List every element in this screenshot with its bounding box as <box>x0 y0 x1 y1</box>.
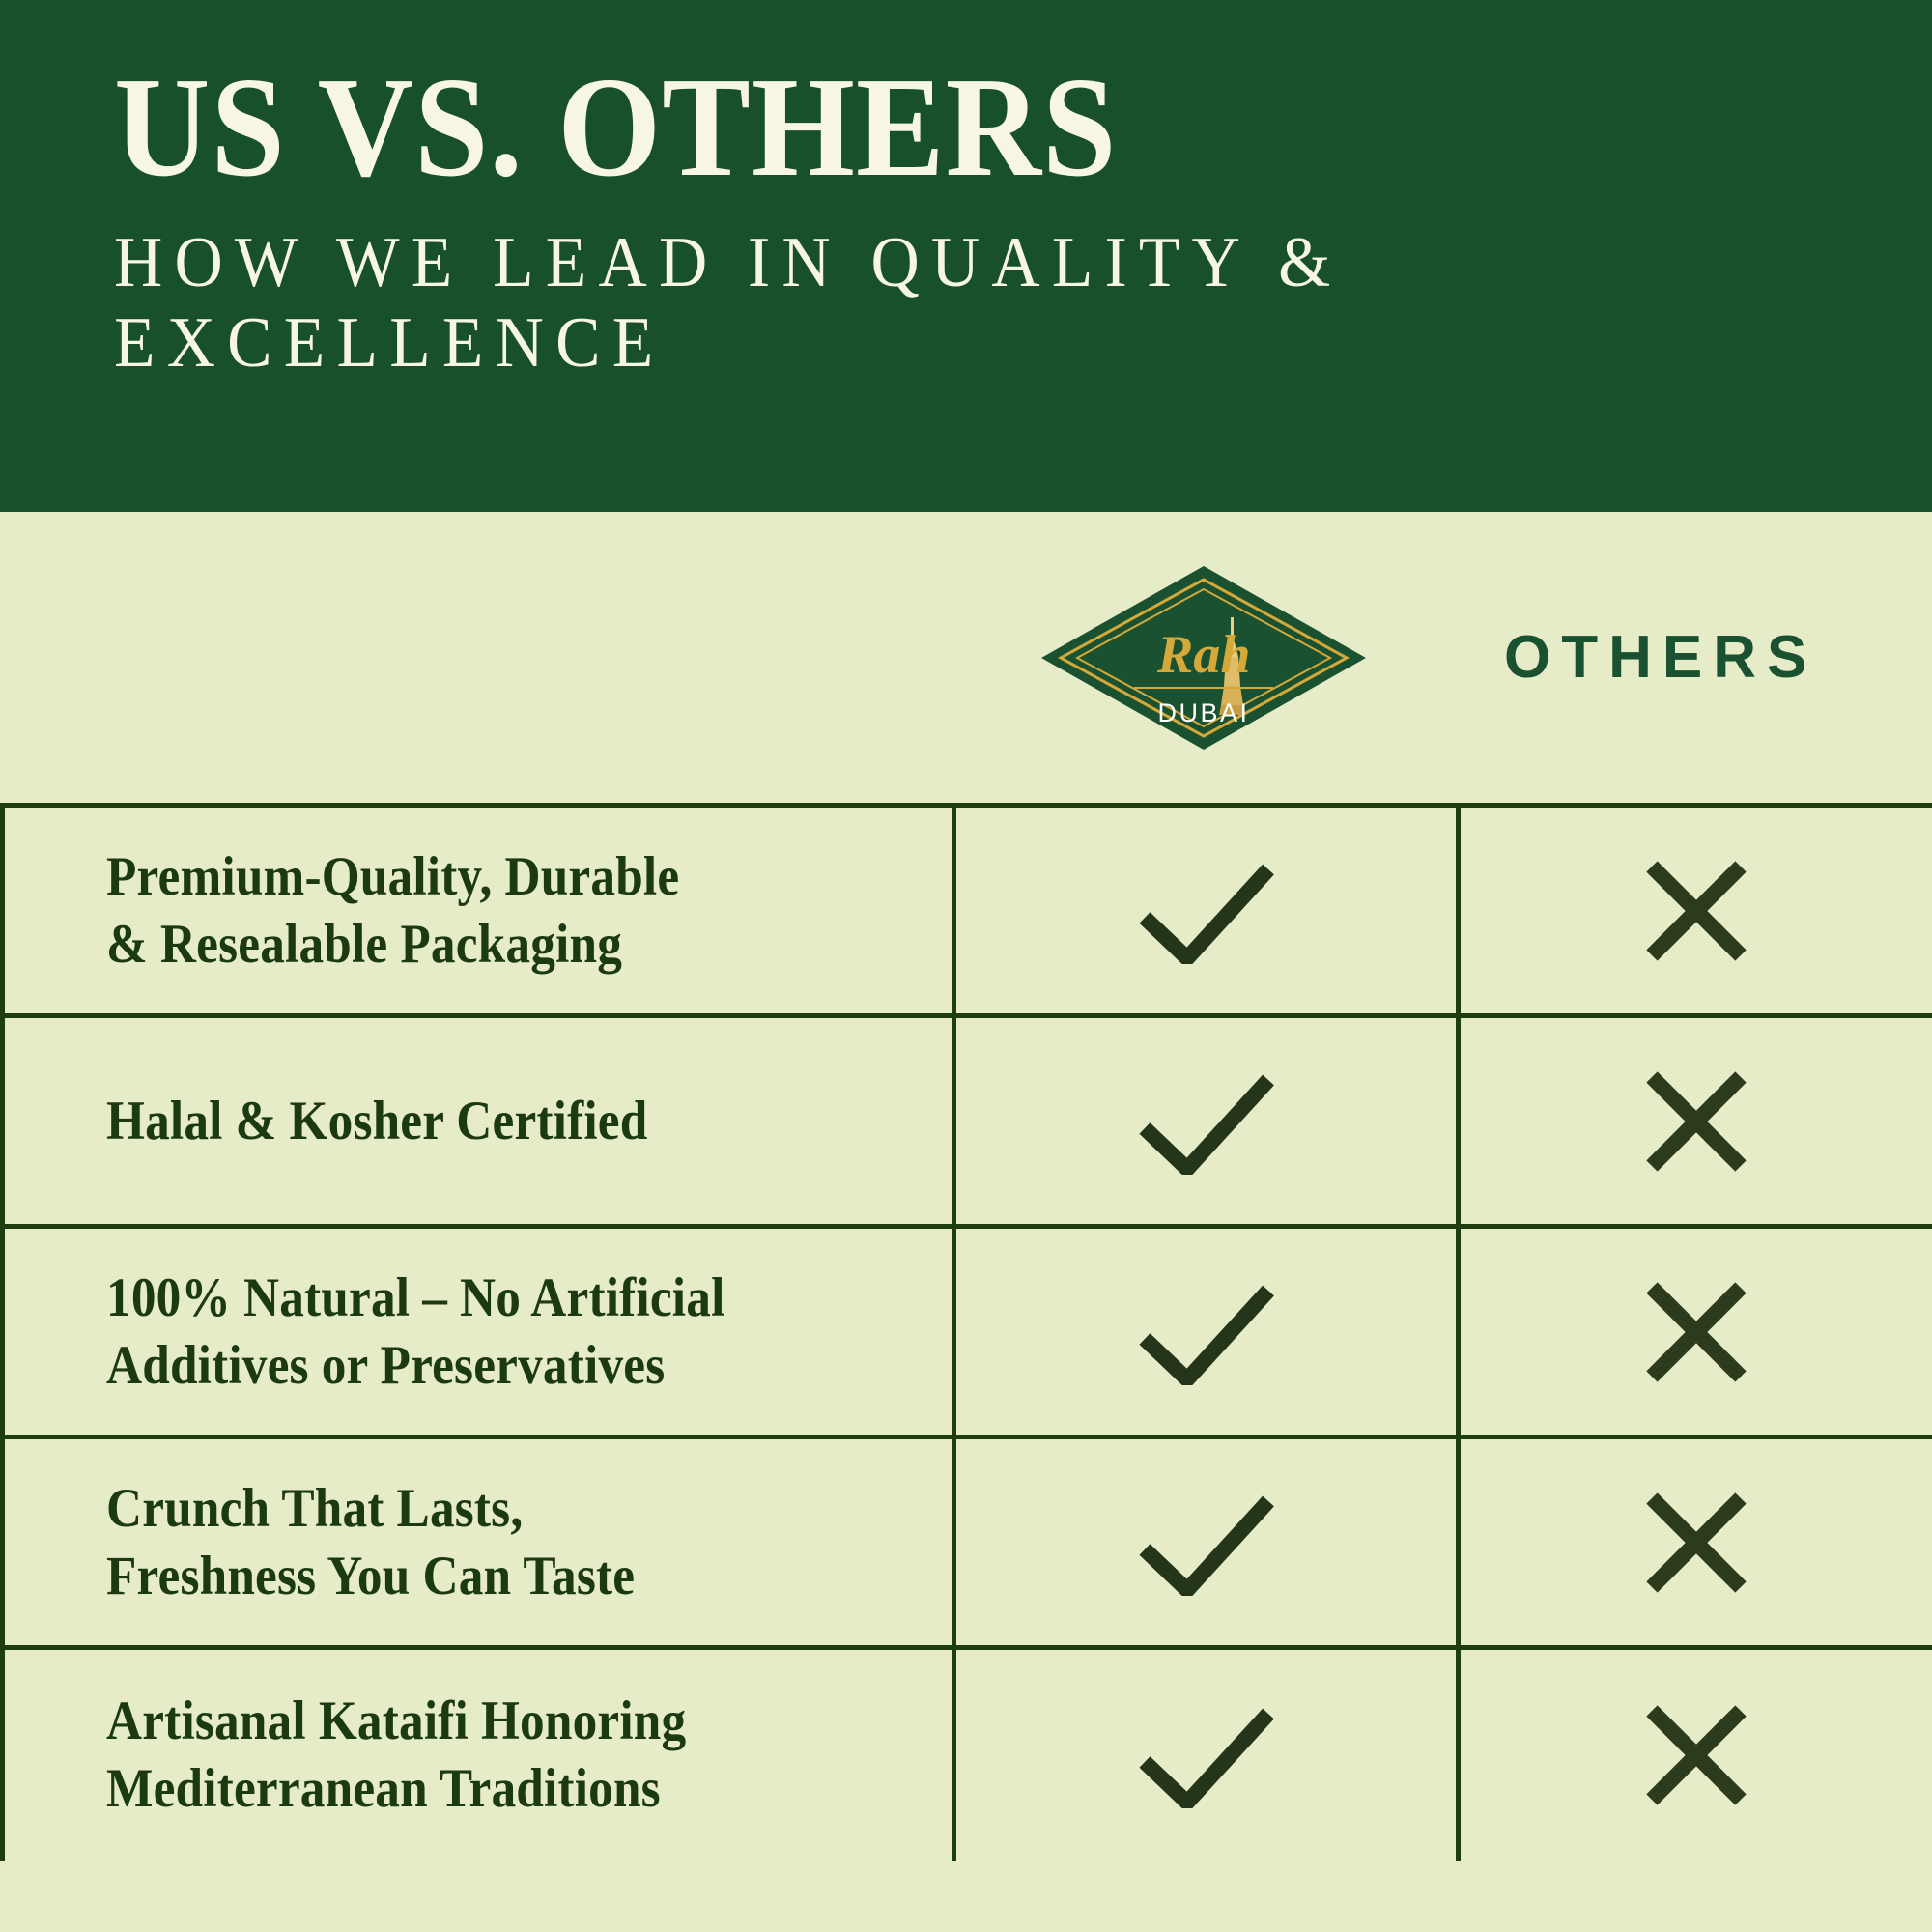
cross-icon <box>1642 1067 1750 1176</box>
header-cell-us: Rah DUBAI <box>952 512 1456 803</box>
cross-icon <box>1642 1489 1750 1597</box>
header-banner: US VS. OTHERS HOW WE LEAD IN QUALITY & E… <box>0 0 1932 512</box>
brand-location-text: DUBAI <box>1157 698 1249 727</box>
table-row: Premium-Quality, Durable & Resealable Pa… <box>0 808 1932 1018</box>
feature-cell: Halal & Kosher Certified <box>0 1018 952 1224</box>
us-cell <box>952 1650 1456 1861</box>
us-cell <box>952 1439 1456 1645</box>
us-cell <box>952 808 1456 1013</box>
table-header-row: Rah DUBAI OTHERS <box>0 512 1932 808</box>
comparison-infographic: US VS. OTHERS HOW WE LEAD IN QUALITY & E… <box>0 0 1932 1932</box>
others-cell <box>1456 1229 1932 1435</box>
page-subtitle: HOW WE LEAD IN QUALITY & EXCELLENCE <box>114 223 1712 384</box>
feature-label: Premium-Quality, Durable & Resealable Pa… <box>106 843 679 978</box>
others-column-label: OTHERS <box>1504 623 1817 692</box>
header-cell-feature <box>0 512 952 803</box>
table-row: Crunch That Lasts, Freshness You Can Tas… <box>0 1439 1932 1650</box>
check-icon <box>1135 1279 1278 1385</box>
check-icon <box>1135 1490 1278 1596</box>
feature-cell: 100% Natural – No Artificial Additives o… <box>0 1229 952 1435</box>
us-cell <box>952 1018 1456 1224</box>
others-cell <box>1456 1018 1932 1224</box>
check-icon <box>1135 858 1278 964</box>
table-row: Halal & Kosher Certified <box>0 1018 1932 1229</box>
diamond-logo-icon: Rah DUBAI <box>1039 564 1368 752</box>
feature-line: Freshness You Can Taste <box>106 1543 635 1610</box>
table-row: Artisanal Kataifi Honoring Mediterranean… <box>0 1650 1932 1861</box>
brand-name-text: Rah <box>1156 625 1251 685</box>
feature-label: Crunch That Lasts, Freshness You Can Tas… <box>106 1475 635 1609</box>
brand-logo: Rah DUBAI <box>1039 564 1368 752</box>
feature-line: Artisanal Kataifi Honoring <box>106 1688 686 1755</box>
check-icon <box>1135 1068 1278 1175</box>
feature-label: Artisanal Kataifi Honoring Mediterranean… <box>106 1688 686 1822</box>
feature-label: Halal & Kosher Certified <box>106 1088 647 1155</box>
page-title: US VS. OTHERS <box>114 58 1804 198</box>
check-icon <box>1135 1702 1278 1808</box>
feature-line: Crunch That Lasts, <box>106 1475 635 1543</box>
header-cell-others: OTHERS <box>1456 512 1932 803</box>
feature-line: & Resealable Packaging <box>106 911 679 979</box>
feature-cell: Premium-Quality, Durable & Resealable Pa… <box>0 808 952 1013</box>
feature-line: Premium-Quality, Durable <box>106 843 679 911</box>
others-cell <box>1456 1650 1932 1861</box>
us-cell <box>952 1229 1456 1435</box>
feature-line: Additives or Preservatives <box>106 1332 725 1400</box>
cross-icon <box>1642 1278 1750 1386</box>
feature-cell: Crunch That Lasts, Freshness You Can Tas… <box>0 1439 952 1645</box>
feature-line: Halal & Kosher Certified <box>106 1088 647 1155</box>
feature-label: 100% Natural – No Artificial Additives o… <box>106 1264 725 1399</box>
feature-line: 100% Natural – No Artificial <box>106 1264 725 1332</box>
feature-cell: Artisanal Kataifi Honoring Mediterranean… <box>0 1650 952 1861</box>
others-cell <box>1456 808 1932 1013</box>
comparison-table: Rah DUBAI OTHERS Premium-Quality, Durabl… <box>0 512 1932 1932</box>
cross-icon <box>1642 1701 1750 1809</box>
cross-icon <box>1642 857 1750 965</box>
feature-line: Mediterranean Traditions <box>106 1755 686 1823</box>
table-row: 100% Natural – No Artificial Additives o… <box>0 1229 1932 1439</box>
others-cell <box>1456 1439 1932 1645</box>
